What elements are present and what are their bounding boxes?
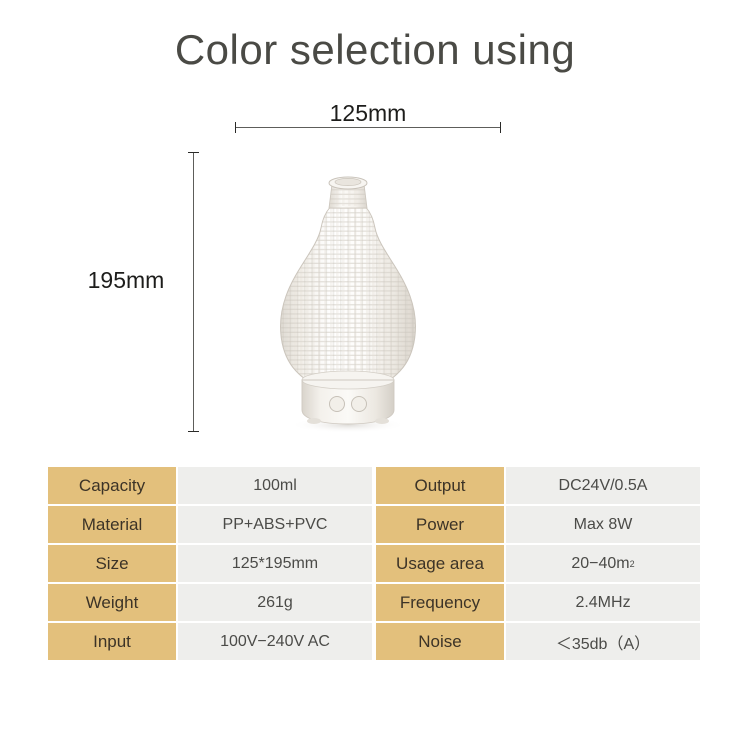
- table-row: Input 100V−240V AC: [48, 623, 372, 660]
- spec-table-right-half: Output DC24V/0.5A Power Max 8W Usage are…: [376, 467, 700, 660]
- table-row: Output DC24V/0.5A: [376, 467, 700, 504]
- spec-label: Noise: [376, 623, 504, 660]
- light-button: [352, 397, 367, 412]
- page-title: Color selection using: [0, 26, 750, 74]
- spec-label: Frequency: [376, 584, 504, 621]
- power-button: [330, 397, 345, 412]
- spec-table-left-half: Capacity 100ml Material PP+ABS+PVC Size …: [48, 467, 372, 660]
- spec-value: 2.4MHz: [506, 584, 700, 621]
- product-image-aroma-diffuser: [258, 172, 438, 434]
- spec-value: 261g: [178, 584, 372, 621]
- spec-value: ＜35db（A）: [506, 623, 700, 660]
- diffuser-base: [302, 371, 394, 424]
- width-dimension-line: [235, 127, 501, 128]
- table-row: Material PP+ABS+PVC: [48, 506, 372, 543]
- table-row: Frequency 2.4MHz: [376, 584, 700, 621]
- width-dimension-tick-right: [500, 122, 501, 133]
- spec-label: Power: [376, 506, 504, 543]
- spec-value: 100V−240V AC: [178, 623, 372, 660]
- width-dimension-label: 125mm: [235, 100, 501, 127]
- spec-label: Output: [376, 467, 504, 504]
- spec-label: Weight: [48, 584, 176, 621]
- spec-value: 125*195mm: [178, 545, 372, 582]
- table-row: Size 125*195mm: [48, 545, 372, 582]
- spec-value: PP+ABS+PVC: [178, 506, 372, 543]
- height-dimension-label: 195mm: [76, 267, 176, 294]
- spec-value: 100ml: [178, 467, 372, 504]
- diffuser-top-rim: [329, 177, 367, 189]
- table-row: Noise ＜35db（A）: [376, 623, 700, 660]
- specification-table: Capacity 100ml Material PP+ABS+PVC Size …: [48, 467, 700, 660]
- height-dimension-tick-bottom: [188, 431, 199, 432]
- spec-label: Usage area: [376, 545, 504, 582]
- height-dimension-line: [193, 152, 194, 432]
- spec-label: Material: [48, 506, 176, 543]
- spec-value-superscript: 2: [630, 559, 635, 569]
- spec-label: Size: [48, 545, 176, 582]
- height-dimension-tick-top: [188, 152, 199, 153]
- table-row: Weight 261g: [48, 584, 372, 621]
- width-dimension-tick-left: [235, 122, 236, 133]
- table-row: Usage area 20−40m2: [376, 545, 700, 582]
- spec-value: Max 8W: [506, 506, 700, 543]
- spec-value: 20−40m2: [506, 545, 700, 582]
- spec-label: Capacity: [48, 467, 176, 504]
- table-row: Capacity 100ml: [48, 467, 372, 504]
- table-row: Power Max 8W: [376, 506, 700, 543]
- spec-value: DC24V/0.5A: [506, 467, 700, 504]
- product-spec-page: Color selection using 125mm 195mm: [0, 0, 750, 750]
- spec-label: Input: [48, 623, 176, 660]
- spec-value-text: 20−40m: [571, 555, 629, 573]
